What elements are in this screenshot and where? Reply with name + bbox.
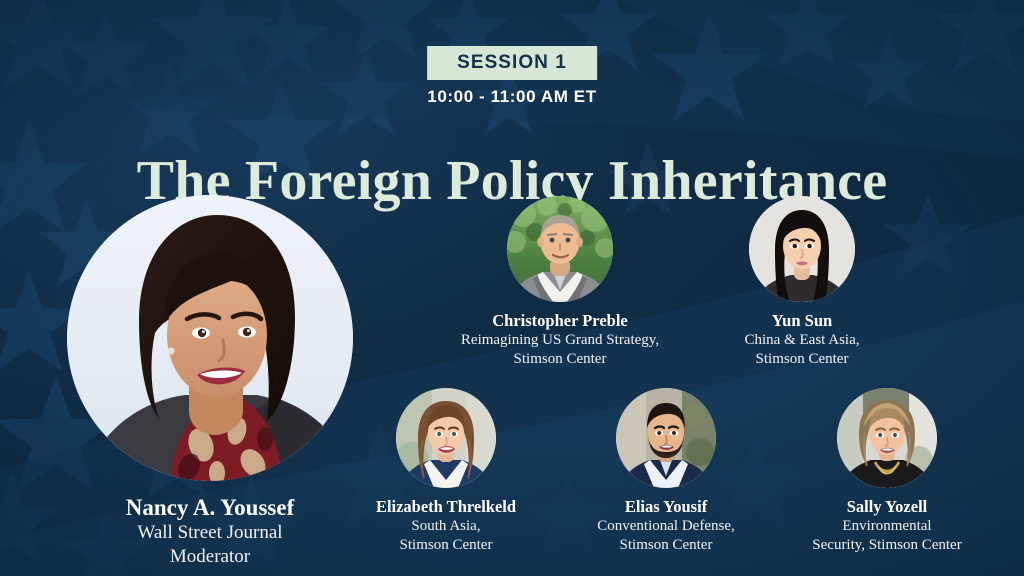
speaker-block-elizabeth-threlkeld: Elizabeth Threlkeld South Asia, Stimson … bbox=[340, 388, 552, 555]
session-badge: SESSION 1 bbox=[427, 46, 597, 80]
speaker-avatar-elias-yousif bbox=[616, 388, 716, 488]
speaker-affiliation-line1: South Asia, bbox=[340, 517, 552, 536]
speaker-block-sally-yozell: Sally Yozell Environmental Security, Sti… bbox=[778, 388, 996, 555]
moderator-role: Moderator bbox=[30, 545, 390, 569]
session-time: 10:00 - 11:00 AM ET bbox=[427, 87, 596, 107]
speaker-affiliation-line1: China & East Asia, bbox=[657, 331, 947, 350]
speaker-affiliation-line1: Conventional Defense, bbox=[560, 517, 772, 536]
speaker-affiliation-line2: Stimson Center bbox=[560, 536, 772, 555]
moderator-affiliation: Wall Street Journal bbox=[30, 521, 390, 545]
speaker-portrait-image bbox=[616, 388, 716, 488]
moderator-name: Nancy A. Youssef bbox=[30, 495, 390, 521]
speaker-avatar-christopher-preble bbox=[507, 196, 613, 302]
speaker-block-yun-sun: Yun Sun China & East Asia, Stimson Cente… bbox=[657, 196, 947, 369]
speaker-portrait-image bbox=[837, 388, 937, 488]
speaker-affiliation-line2: Security, Stimson Center bbox=[778, 536, 996, 555]
speaker-avatar-elizabeth-threlkeld bbox=[396, 388, 496, 488]
speaker-portrait-image bbox=[396, 388, 496, 488]
speaker-name: Elias Yousif bbox=[560, 497, 772, 517]
speaker-name: Yun Sun bbox=[657, 311, 947, 331]
event-session-slide: SESSION 1 10:00 - 11:00 AM ET The Foreig… bbox=[0, 0, 1024, 576]
moderator-avatar bbox=[67, 195, 353, 481]
moderator-portrait-image bbox=[67, 195, 353, 481]
speaker-name: Elizabeth Threlkeld bbox=[340, 497, 552, 517]
speaker-affiliation-line2: Stimson Center bbox=[340, 536, 552, 555]
speaker-affiliation-line1: Environmental bbox=[778, 517, 996, 536]
speaker-block-elias-yousif: Elias Yousif Conventional Defense, Stims… bbox=[560, 388, 772, 555]
speaker-avatar-sally-yozell bbox=[837, 388, 937, 488]
speaker-affiliation-line2: Stimson Center bbox=[657, 350, 947, 369]
speaker-avatar-yun-sun bbox=[749, 196, 855, 302]
speaker-name: Sally Yozell bbox=[778, 497, 996, 517]
moderator-block: Nancy A. Youssef Wall Street Journal Mod… bbox=[30, 195, 390, 570]
speaker-portrait-image bbox=[507, 196, 613, 302]
speaker-portrait-image bbox=[749, 196, 855, 302]
